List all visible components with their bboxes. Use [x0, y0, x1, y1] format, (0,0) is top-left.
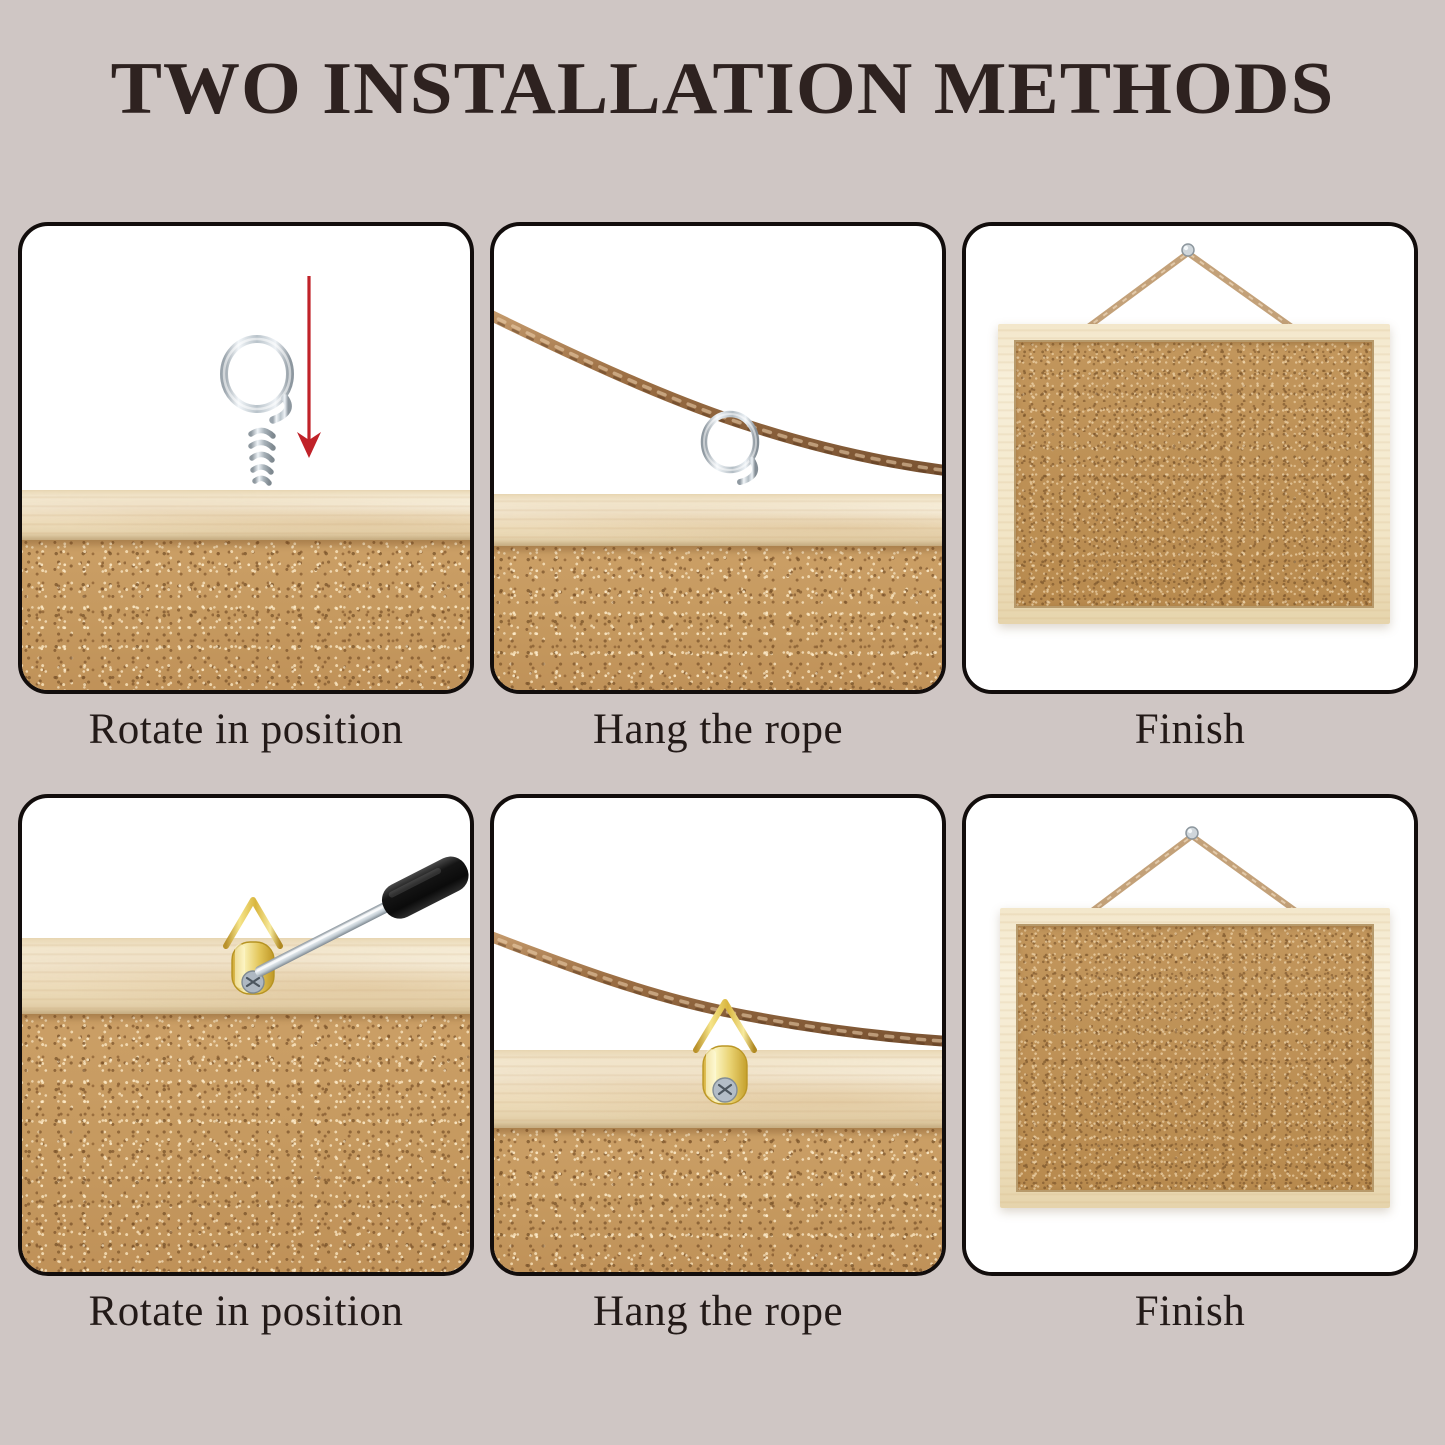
wood-cork-scene [494, 226, 942, 690]
wood-cork-scene [494, 798, 942, 1272]
screw-eye-icon [690, 402, 780, 502]
finished-board-scene [966, 226, 1414, 690]
step-caption: Rotate in position [18, 1288, 474, 1335]
step-caption: Finish [962, 706, 1418, 753]
cork-surface [18, 1014, 474, 1276]
panel-screw-eye-insert[interactable] [18, 222, 474, 694]
step-cell: Finish [962, 222, 1418, 753]
screw-eye-icon [207, 326, 327, 501]
step-caption: Hang the rope [490, 706, 946, 753]
screwdriver-icon [234, 854, 474, 1044]
wall-nail-icon [1182, 244, 1194, 256]
panel-finished-board-1[interactable] [962, 222, 1418, 694]
page-title: TWO INSTALLATION METHODS [0, 52, 1445, 126]
cork-surface [18, 540, 474, 694]
cork-board [998, 324, 1390, 624]
cork-surface [1014, 340, 1374, 608]
cork-surface [490, 546, 946, 694]
step-cell: Finish [962, 794, 1418, 1335]
wall-nail-icon [1186, 827, 1198, 839]
step-caption: Hang the rope [490, 1288, 946, 1335]
wood-cork-scene [22, 226, 470, 690]
step-cell: Rotate in position [18, 794, 474, 1335]
cork-board [1000, 908, 1390, 1208]
installation-steps-grid: Rotate in position [18, 222, 1430, 1382]
wood-strip [18, 490, 474, 540]
step-caption: Rotate in position [18, 706, 474, 753]
finished-board-scene [966, 798, 1414, 1272]
step-cell: Hang the rope [490, 222, 946, 753]
step-caption: Finish [962, 1288, 1418, 1335]
cork-surface [1016, 924, 1374, 1192]
step-cell: Hang the rope [490, 794, 946, 1335]
wood-strip [490, 494, 946, 546]
d-ring-hanger-icon [680, 990, 770, 1130]
wood-cork-scene [22, 798, 470, 1272]
panel-dring-rope[interactable] [490, 794, 946, 1276]
cork-surface [490, 1128, 946, 1276]
panel-dring-screwdriver[interactable] [18, 794, 474, 1276]
panel-screw-eye-rope[interactable] [490, 222, 946, 694]
panel-finished-board-2[interactable] [962, 794, 1418, 1276]
step-cell: Rotate in position [18, 222, 474, 753]
